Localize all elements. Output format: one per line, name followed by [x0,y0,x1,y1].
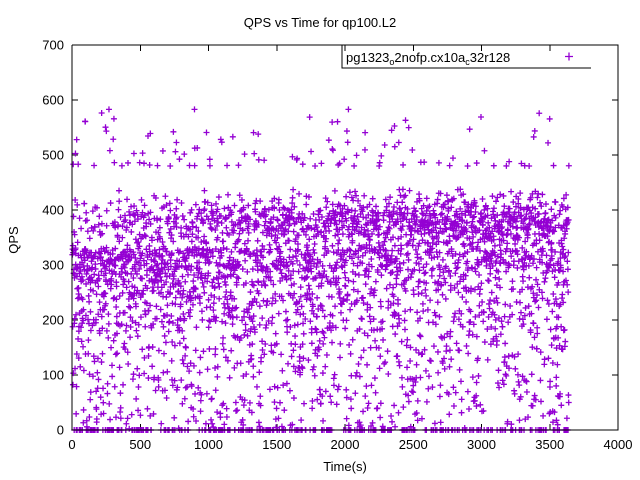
y-tick-label: 400 [42,203,64,218]
y-tick-label: 200 [42,313,64,328]
x-tick-label: 3500 [535,437,564,452]
legend-series-label: pg1323o2nofp.cx10ac32r128 [346,50,510,67]
chart-page: QPS vs Time for qp100.L2 QPS Time(s) 010… [0,0,640,480]
x-tick-label: 1000 [194,437,223,452]
y-tick-label: 700 [42,38,64,53]
x-tick-label: 1500 [262,437,291,452]
x-tick-label: 2000 [331,437,360,452]
y-tick-label: 600 [42,93,64,108]
qps-scatter-chart: QPS vs Time for qp100.L2 QPS Time(s) 010… [0,0,640,480]
y-tick-label: 0 [57,423,64,438]
x-axis-label: Time(s) [323,459,367,474]
y-axis-label: QPS [6,226,21,254]
y-tick-label: 300 [42,258,64,273]
y-tick-label: 100 [42,368,64,383]
x-tick-label: 4000 [604,437,633,452]
page-title: QPS vs Time for qp100.L2 [244,15,396,30]
x-tick-label: 2500 [399,437,428,452]
x-tick-label: 0 [68,437,75,452]
x-tick-label: 3000 [467,437,496,452]
x-tick-label: 500 [129,437,151,452]
y-tick-label: 500 [42,148,64,163]
